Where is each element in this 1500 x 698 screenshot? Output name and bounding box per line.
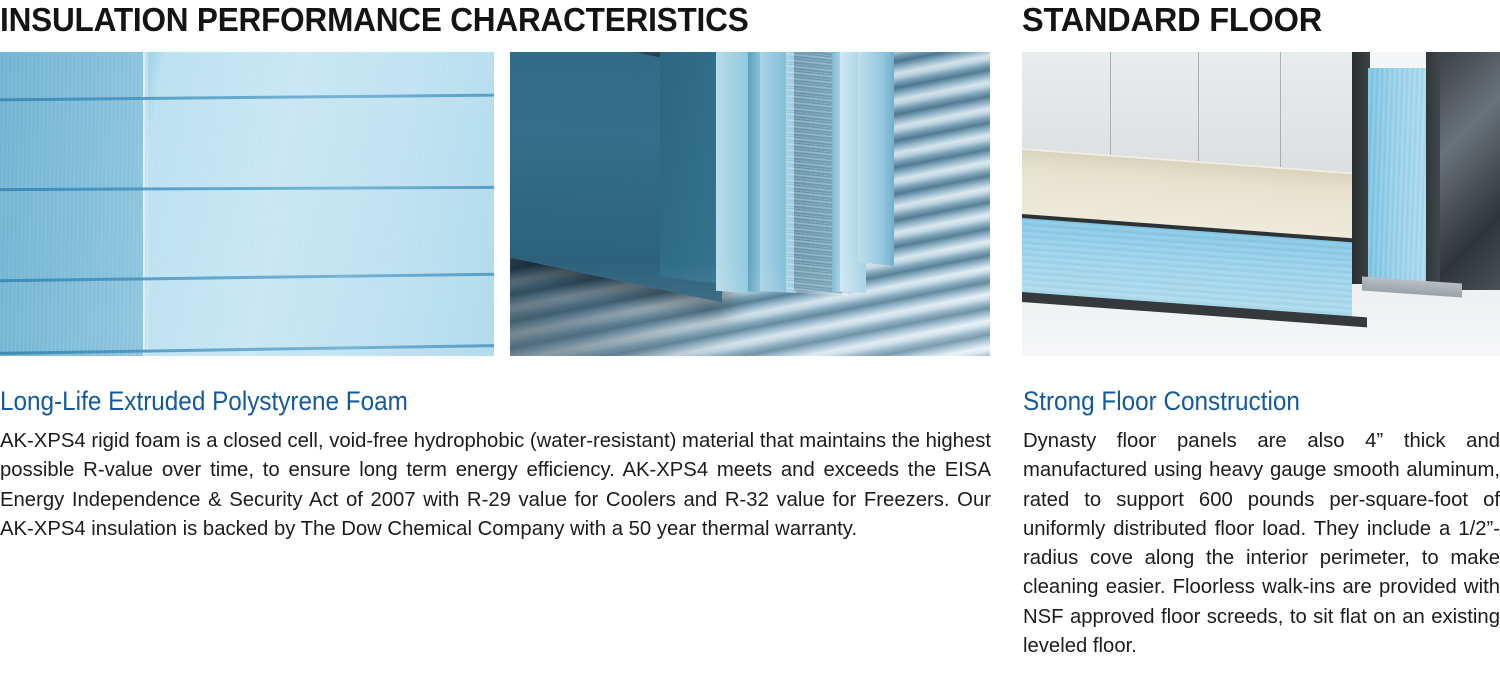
subheading-long-life-foam: Long-Life Extruded Polystyrene Foam xyxy=(0,385,408,417)
floor-description-paragraph: Dynasty floor panels are also 4” thick a… xyxy=(1023,427,1500,661)
insulation-performance-column: INSULATION PERFORMANCE CHARACTERISTICS xyxy=(0,0,994,698)
foam-core-corner xyxy=(1368,68,1430,286)
page-title-insulation: INSULATION PERFORMANCE CHARACTERISTICS xyxy=(0,0,749,40)
standard-floor-column: STANDARD FLOOR xyxy=(1022,0,1500,698)
insulation-description-paragraph: AK-XPS4 rigid foam is a closed cell, voi… xyxy=(0,427,991,544)
xps-foam-production-line-photo xyxy=(510,52,990,356)
walk-in-floor-cutaway-photo xyxy=(1022,52,1500,356)
adjacent-wall-panel xyxy=(1440,52,1500,290)
floor-cutaway-scene xyxy=(1022,52,1500,356)
foam-stack-scene xyxy=(0,52,494,356)
foam-board-front xyxy=(858,52,894,266)
foam-board-edge xyxy=(716,52,750,293)
insulation-and-floor-spec-page: INSULATION PERFORMANCE CHARACTERISTICS xyxy=(0,0,1500,698)
xps-foam-stack-photo xyxy=(0,52,494,356)
subheading-strong-floor-construction: Strong Floor Construction xyxy=(1023,385,1300,417)
page-title-standard-floor: STANDARD FLOOR xyxy=(1022,0,1322,40)
roller-floor-highlight xyxy=(510,260,990,356)
foam-line-scene xyxy=(510,52,990,356)
